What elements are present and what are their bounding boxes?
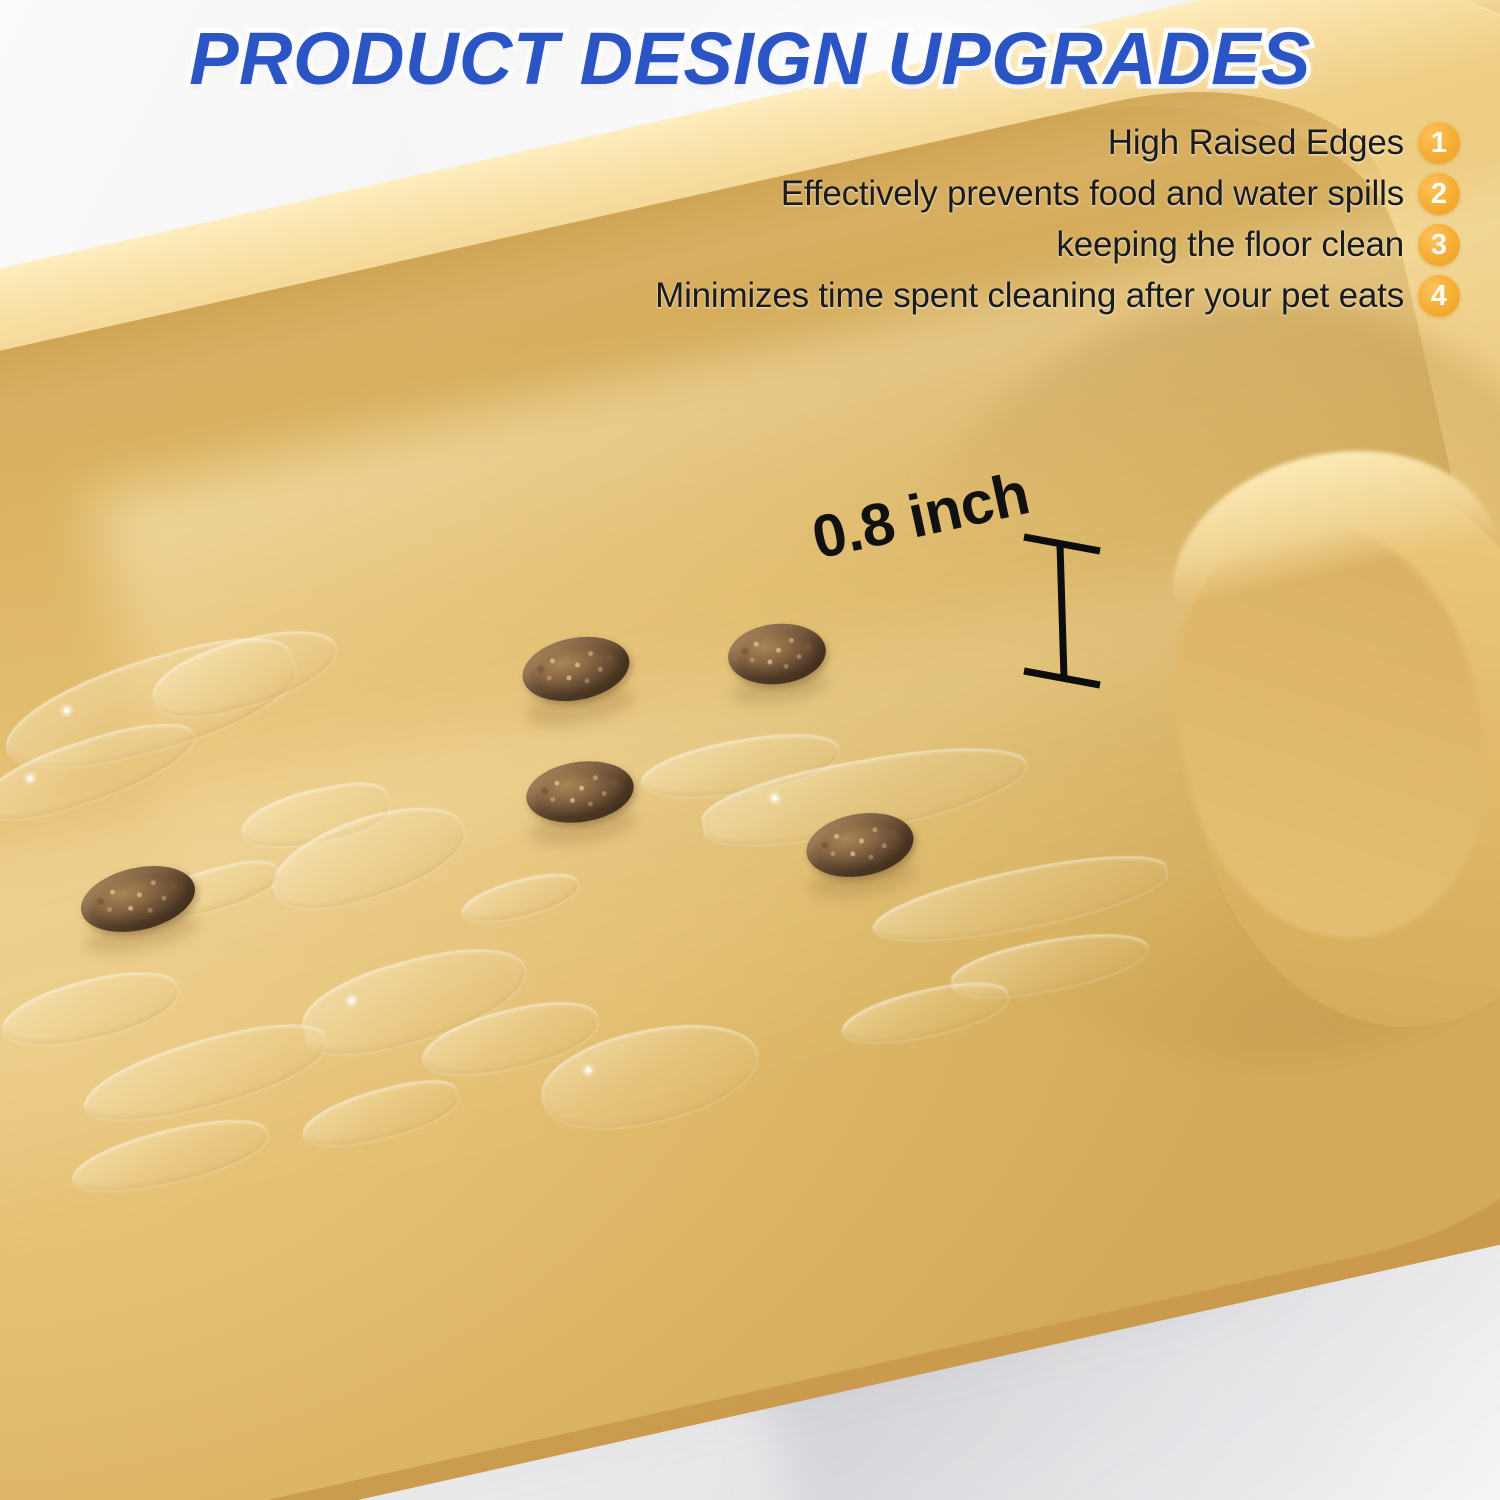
dimension-i-beam-icon	[1020, 525, 1106, 695]
page-title: PRODUCT DESIGN UPGRADES	[0, 16, 1500, 101]
feature-number-badge: 2	[1418, 173, 1460, 215]
product-marketing-image: 0.8 inch PRODUCT DESIGN UPGRADES High Ra…	[0, 0, 1500, 1500]
feature-list: High Raised Edges 1 Effectively prevents…	[500, 122, 1460, 317]
feature-label: Effectively prevents food and water spil…	[781, 174, 1404, 214]
feature-item-3: keeping the floor clean 3	[500, 224, 1460, 266]
feature-item-4: Minimizes time spent cleaning after your…	[500, 275, 1460, 317]
feature-number-badge: 3	[1418, 224, 1460, 266]
feature-label: Minimizes time spent cleaning after your…	[655, 276, 1404, 316]
feature-number-badge: 4	[1418, 275, 1460, 317]
feature-number-badge: 1	[1418, 122, 1460, 164]
feature-label: keeping the floor clean	[1056, 225, 1404, 265]
feature-item-1: High Raised Edges 1	[500, 122, 1460, 164]
feature-item-2: Effectively prevents food and water spil…	[500, 173, 1460, 215]
feature-label: High Raised Edges	[1108, 123, 1404, 163]
